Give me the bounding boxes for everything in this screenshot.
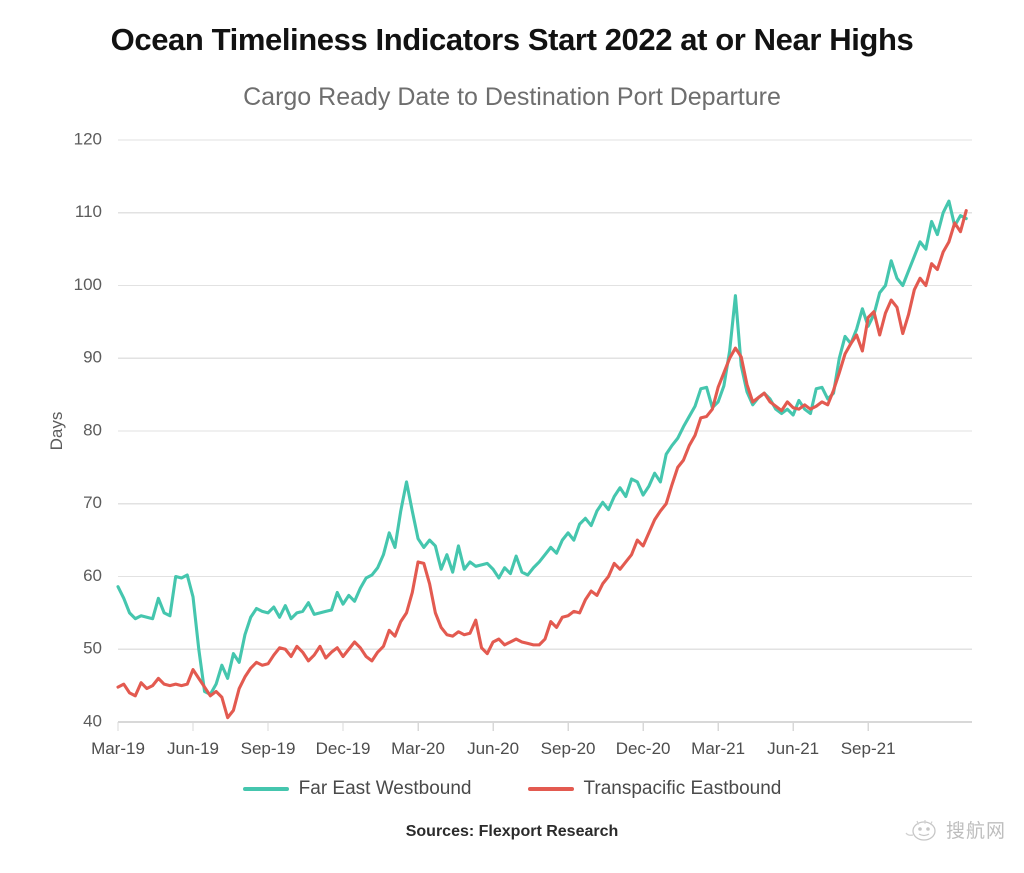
y-tick-label: 120: [74, 129, 102, 148]
y-axis-tick-labels: 405060708090100110120: [74, 129, 102, 730]
x-tick-label: Mar-20: [391, 739, 445, 758]
x-tick-label: Sep-20: [541, 739, 596, 758]
y-tick-label: 70: [83, 493, 102, 512]
watermark-text: 搜航网: [946, 816, 1006, 843]
x-tick-label: Jun-19: [167, 739, 219, 758]
x-axis-tick-marks: [118, 722, 868, 731]
data-series-group: [118, 201, 966, 718]
x-tick-label: Sep-19: [241, 739, 296, 758]
y-axis-title: Days: [47, 412, 66, 451]
chart-legend: Far East WestboundTranspacific Eastbound: [0, 778, 1024, 800]
series-line: [118, 211, 966, 718]
line-chart-plot: 405060708090100110120 Mar-19Jun-19Sep-19…: [0, 0, 1024, 873]
x-tick-label: Jun-21: [767, 739, 819, 758]
x-axis-tick-labels: Mar-19Jun-19Sep-19Dec-19Mar-20Jun-20Sep-…: [91, 739, 895, 758]
watermark: 搜航网: [905, 816, 1006, 843]
chart-figure: Ocean Timeliness Indicators Start 2022 a…: [0, 0, 1024, 873]
legend-item[interactable]: Far East Westbound: [243, 778, 472, 800]
smiley-face-logo-icon: [905, 817, 939, 843]
series-line: [118, 201, 966, 694]
x-tick-label: Jun-20: [467, 739, 519, 758]
y-tick-label: 80: [83, 420, 102, 439]
y-tick-label: 60: [83, 566, 102, 585]
legend-item[interactable]: Transpacific Eastbound: [528, 778, 782, 800]
y-tick-label: 90: [83, 348, 102, 367]
y-tick-label: 50: [83, 639, 102, 658]
y-tick-label: 100: [74, 275, 102, 294]
x-tick-label: Mar-21: [691, 739, 745, 758]
y-tick-label: 110: [75, 202, 102, 221]
x-tick-label: Mar-19: [91, 739, 145, 758]
x-tick-label: Sep-21: [841, 739, 896, 758]
legend-color-swatch: [528, 787, 574, 791]
y-tick-label: 40: [83, 711, 102, 730]
x-tick-label: Dec-19: [316, 739, 371, 758]
source-note: Sources: Flexport Research: [0, 823, 1024, 841]
legend-label: Far East Westbound: [299, 778, 472, 800]
legend-color-swatch: [243, 787, 289, 791]
x-tick-label: Dec-20: [616, 739, 671, 758]
legend-label: Transpacific Eastbound: [584, 778, 782, 800]
